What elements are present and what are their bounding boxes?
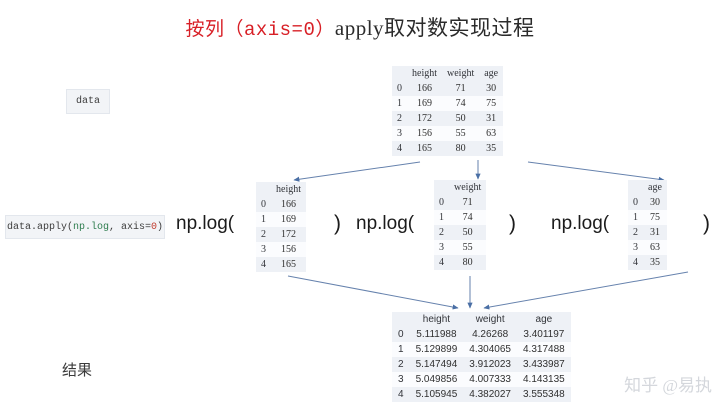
row-index: 4	[628, 255, 643, 270]
cell: 166	[407, 81, 442, 96]
table-header-row: height weight age	[392, 66, 503, 81]
weight-table-body: 0 71 1 74 2 50 3 55 4 80	[434, 195, 486, 270]
cell: 156	[407, 126, 442, 141]
table-row: 4 165	[256, 257, 306, 272]
page-title-red: 按列（axis=0）	[185, 19, 334, 41]
cell: 31	[643, 225, 667, 240]
code-mid-text: , axis=	[109, 222, 151, 233]
row-index: 4	[392, 141, 407, 156]
table-row: 2 31	[628, 225, 667, 240]
table-row: 4 165 80 35	[392, 141, 503, 156]
nplog-call-height: np.log(	[176, 213, 234, 235]
cell: 55	[442, 126, 479, 141]
table-row: 0 30	[628, 195, 667, 210]
row-index: 4	[256, 257, 271, 272]
row-index: 2	[628, 225, 643, 240]
table-row: 3 156 55 63	[392, 126, 503, 141]
row-index: 0	[392, 81, 407, 96]
row-index: 1	[392, 342, 410, 357]
index-header	[392, 312, 410, 327]
table-row: 3 63	[628, 240, 667, 255]
cell: 5.105945	[410, 387, 464, 402]
table-row: 4 5.105945 4.382027 3.555348	[392, 387, 571, 402]
column-header: height	[271, 182, 306, 197]
result-table-body: 0 5.111988 4.26268 3.401197 1 5.129899 4…	[392, 327, 571, 402]
row-index: 2	[392, 111, 407, 126]
cell: 4.317488	[517, 342, 571, 357]
arrow-layer	[0, 0, 720, 404]
cell: 172	[407, 111, 442, 126]
table-row: 3 156	[256, 242, 306, 257]
row-index: 2	[434, 225, 449, 240]
cell: 172	[271, 227, 306, 242]
cell: 5.111988	[410, 327, 464, 342]
row-index: 4	[434, 255, 449, 270]
age-table-head: age	[628, 180, 667, 195]
table-row: 2 172	[256, 227, 306, 242]
weight-column-table: weight 0 71 1 74 2 50 3 55 4 80	[434, 180, 486, 270]
table-row: 4 35	[628, 255, 667, 270]
table-row: 3 5.049856 4.007333 4.143135	[392, 372, 571, 387]
table-row: 0 166	[256, 197, 306, 212]
table-row: 2 50	[434, 225, 486, 240]
row-index: 3	[434, 240, 449, 255]
table-row: 0 166 71 30	[392, 81, 503, 96]
row-index: 1	[256, 212, 271, 227]
column-header: age	[479, 66, 503, 81]
result-dataframe-table: height weight age 0 5.111988 4.26268 3.4…	[392, 312, 571, 402]
cell: 50	[449, 225, 486, 240]
cell: 71	[442, 81, 479, 96]
column-header: weight	[442, 66, 479, 81]
column-header: age	[517, 312, 571, 327]
nplog-close-paren-height: )	[334, 212, 341, 236]
row-index: 0	[434, 195, 449, 210]
cell: 3.912023	[463, 357, 517, 372]
column-header: height	[407, 66, 442, 81]
cell: 165	[271, 257, 306, 272]
index-header	[256, 182, 271, 197]
cell: 3.433987	[517, 357, 571, 372]
age-column-table: age 0 30 1 75 2 31 3 63 4 35	[628, 180, 667, 270]
cell: 80	[449, 255, 486, 270]
cell: 3.555348	[517, 387, 571, 402]
cell: 169	[271, 212, 306, 227]
row-index: 2	[392, 357, 410, 372]
nplog-close-paren-age: )	[703, 212, 710, 236]
code-prefix-text: data.apply(	[7, 222, 73, 233]
column-header: age	[643, 180, 667, 195]
page-title: 按列（axis=0）apply取对数实现过程	[0, 12, 720, 42]
row-index: 1	[628, 210, 643, 225]
cell: 4.143135	[517, 372, 571, 387]
row-index: 0	[628, 195, 643, 210]
weight-table-head: weight	[434, 180, 486, 195]
cell: 4.26268	[463, 327, 517, 342]
result-label: 结果	[62, 359, 92, 380]
cell: 55	[449, 240, 486, 255]
cell: 4.304065	[463, 342, 517, 357]
height-column-table: height 0 166 1 169 2 172 3 156 4 165	[256, 182, 306, 272]
row-index: 0	[256, 197, 271, 212]
cell: 30	[643, 195, 667, 210]
cell: 71	[449, 195, 486, 210]
table-row: 1 75	[628, 210, 667, 225]
cell: 80	[442, 141, 479, 156]
table-row: 2 172 50 31	[392, 111, 503, 126]
table-row: 2 5.147494 3.912023 3.433987	[392, 357, 571, 372]
cell: 50	[442, 111, 479, 126]
index-header	[392, 66, 407, 81]
nplog-close-paren-weight: )	[509, 212, 516, 236]
cell: 4.007333	[463, 372, 517, 387]
code-label-box: data.apply(np.log, axis=0)	[5, 215, 165, 239]
cell: 74	[449, 210, 486, 225]
source-table-head: height weight age	[392, 66, 503, 81]
row-index: 0	[392, 327, 410, 342]
table-row: 0 71	[434, 195, 486, 210]
cell: 63	[643, 240, 667, 255]
cell: 169	[407, 96, 442, 111]
source-dataframe-table: height weight age 0 166 71 30 1 169 74 7…	[392, 66, 503, 156]
arrow-age-to-result	[484, 272, 688, 308]
table-row: 4 80	[434, 255, 486, 270]
row-index: 3	[256, 242, 271, 257]
arrow-source-to-age	[528, 162, 664, 180]
table-header-row: weight	[434, 180, 486, 195]
cell: 5.129899	[410, 342, 464, 357]
table-row: 3 55	[434, 240, 486, 255]
cell: 74	[442, 96, 479, 111]
nplog-call-weight: np.log(	[356, 213, 414, 235]
table-row: 0 5.111988 4.26268 3.401197	[392, 327, 571, 342]
column-header: weight	[449, 180, 486, 195]
table-row: 1 169	[256, 212, 306, 227]
cell: 75	[643, 210, 667, 225]
cell: 63	[479, 126, 503, 141]
cell: 166	[271, 197, 306, 212]
row-index: 1	[434, 210, 449, 225]
row-index: 1	[392, 96, 407, 111]
table-header-row: height	[256, 182, 306, 197]
table-header-row: age	[628, 180, 667, 195]
cell: 35	[479, 141, 503, 156]
result-table-head: height weight age	[392, 312, 571, 327]
cell: 30	[479, 81, 503, 96]
cell: 3.401197	[517, 327, 571, 342]
cell: 5.049856	[410, 372, 464, 387]
cell: 35	[643, 255, 667, 270]
arrow-height-to-result	[288, 276, 458, 308]
slide-canvas: 按列（axis=0）apply取对数实现过程 data data.apply(n…	[0, 0, 720, 404]
row-index: 3	[392, 372, 410, 387]
row-index: 3	[628, 240, 643, 255]
data-label-text: data	[76, 96, 100, 107]
code-suffix-text: )	[157, 222, 163, 233]
table-row: 1 74	[434, 210, 486, 225]
height-table-head: height	[256, 182, 306, 197]
source-table-body: 0 166 71 30 1 169 74 75 2 172 50 31 3 15…	[392, 81, 503, 156]
watermark: 知乎 @易执	[624, 371, 712, 396]
cell: 165	[407, 141, 442, 156]
column-header: weight	[463, 312, 517, 327]
nplog-call-age: np.log(	[551, 213, 609, 235]
cell: 4.382027	[463, 387, 517, 402]
height-table-body: 0 166 1 169 2 172 3 156 4 165	[256, 197, 306, 272]
table-row: 1 5.129899 4.304065 4.317488	[392, 342, 571, 357]
index-header	[628, 180, 643, 195]
column-header: height	[410, 312, 464, 327]
arrow-source-to-height	[294, 162, 420, 180]
index-header	[434, 180, 449, 195]
cell: 156	[271, 242, 306, 257]
page-title-black: apply取对数实现过程	[335, 16, 535, 40]
code-func-text: np.log	[73, 222, 109, 233]
age-table-body: 0 30 1 75 2 31 3 63 4 35	[628, 195, 667, 270]
row-index: 3	[392, 126, 407, 141]
table-header-row: height weight age	[392, 312, 571, 327]
cell: 5.147494	[410, 357, 464, 372]
row-index: 2	[256, 227, 271, 242]
table-row: 1 169 74 75	[392, 96, 503, 111]
row-index: 4	[392, 387, 410, 402]
cell: 31	[479, 111, 503, 126]
cell: 75	[479, 96, 503, 111]
data-label-box: data	[66, 89, 110, 114]
